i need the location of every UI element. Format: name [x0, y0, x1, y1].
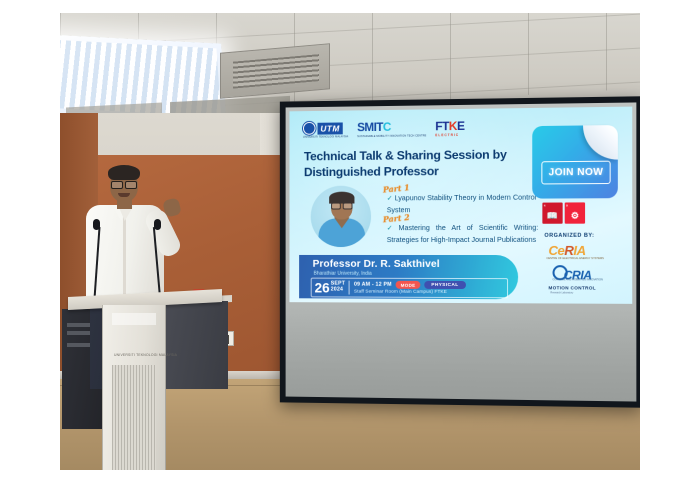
join-now-button[interactable]: JOIN NOW [541, 161, 610, 185]
utm-seal-icon [303, 122, 316, 135]
part-2-bullet: ✓Mastering the Art of Scientific Writing… [387, 223, 539, 246]
smitc-logo-caption: SUSTAINABLE MOBILITY INNOVATION TECH CEN… [357, 134, 426, 138]
presentation-slide: UTM UNIVERSITI TEKNOLOGI MALAYSIA SMITC … [289, 107, 632, 304]
ceria-word-c: IA [573, 243, 585, 258]
podium: UNIVERSITI TEKNOLOGI MALAYSIA [102, 305, 166, 470]
sdg-badge-row: 4 📖 9 ⚙ [542, 202, 585, 223]
side-table [158, 301, 228, 389]
speaker-name: Professor Dr. R. Sakthivel [313, 259, 440, 270]
ftke-logo-word-c: E [457, 119, 464, 133]
speaker-name-bar: Professor Dr. R. Sakthivel Bharathiar Un… [299, 255, 518, 299]
utm-logo: UTM UNIVERSITI TEKNOLOGI MALAYSIA [303, 121, 348, 139]
organized-by-heading: ORGANIZED BY: [544, 233, 594, 239]
slide-logo-row: UTM UNIVERSITI TEKNOLOGI MALAYSIA SMITC … [303, 119, 464, 139]
book-icon: 📖 [547, 212, 558, 221]
ftke-logo-word-a: FT [435, 119, 449, 133]
mode-label-pill: MODE [396, 281, 421, 289]
event-day: 26 [315, 281, 330, 295]
bullet-check-icon-2: ✓ [387, 225, 397, 232]
ftke-logo-sub: ELECTRIC [435, 133, 464, 137]
event-venue: Staff Seminar Room (Main Campus) FTKE [354, 290, 466, 295]
ceria-word-b: R [564, 243, 573, 258]
presenter-hair [108, 165, 140, 180]
detail-divider [349, 281, 350, 295]
utm-logo-word: UTM [317, 122, 342, 134]
event-time: 09 AM - 12 PM [354, 282, 392, 288]
event-photo: UTM UNIVERSITI TEKNOLOGI MALAYSIA SMITC … [60, 13, 640, 470]
join-now-card[interactable]: JOIN NOW [532, 125, 618, 199]
mode-value-pill: PHYSICAL [424, 281, 465, 289]
part-2-text: Mastering the Art of Scientific Writing:… [387, 223, 539, 244]
microphone-head-left [93, 219, 100, 230]
utm-logo-caption: UNIVERSITI TEKNOLOGI MALAYSIA [303, 135, 348, 139]
smitc-logo-word-b: C [383, 120, 391, 134]
sdg-badge-4: 4 📖 [542, 203, 562, 224]
ftke-logo: FTKE ELECTRIC [435, 119, 464, 137]
event-time-venue: 09 AM - 12 PM MODE PHYSICAL Staff Semina… [354, 281, 466, 295]
ceria-logo-sub: CENTRE OF ELECTRICAL ENERGY SYSTEMS [546, 257, 603, 260]
glasses-icon [111, 181, 137, 187]
event-year: 2024 [331, 287, 343, 293]
speaker-portrait-avatar [311, 186, 371, 248]
speaker-affiliation: Bharathiar University, India [314, 271, 372, 277]
sdg-badge-9-number: 9 [566, 204, 567, 207]
smitc-logo-word-a: SMIT [357, 120, 383, 134]
motion-control-logo: MOTION CONTROL [548, 285, 595, 290]
screen-empty-area [286, 308, 637, 402]
event-month-year: SEPT 2024 [331, 282, 345, 294]
podium-paper [112, 313, 156, 325]
event-details-box: 26 SEPT 2024 09 AM - 12 PM MODE PHYSICAL [311, 278, 508, 299]
ceria-logo: CeRIA [548, 243, 585, 258]
podium-brand-text: UNIVERSITI TEKNOLOGI MALAYSIA [114, 353, 177, 357]
motion-control-logo-sub: Research Laboratory [550, 291, 573, 294]
part-1-text: Lyapunov Stability Theory in Modern Cont… [387, 193, 537, 214]
slide-title: Technical Talk & Sharing Session by Dist… [304, 146, 536, 181]
page-curl-icon [583, 125, 618, 160]
sdg-badge-4-number: 4 [544, 204, 545, 207]
projection-screen-surface: UTM UNIVERSITI TEKNOLOGI MALAYSIA SMITC … [286, 102, 637, 401]
ceria-word-a: Ce [548, 243, 564, 258]
gear-network-icon: ⚙ [571, 212, 579, 221]
sdg-badge-9: 9 ⚙ [565, 202, 585, 223]
smitc-logo: SMITC SUSTAINABLE MOBILITY INNOVATION TE… [357, 119, 426, 138]
ceiling-air-vent [220, 43, 330, 99]
microphone-head-right [154, 219, 161, 230]
projection-screen-frame: UTM UNIVERSITI TEKNOLOGI MALAYSIA SMITC … [280, 96, 640, 407]
podium-speaker-grille [112, 365, 156, 470]
bullet-check-icon-1: ✓ [387, 195, 393, 202]
cria-logo-sub: CONTROL AND ROBOTICS INNOVATION [553, 278, 603, 281]
ftke-logo-word-b: K [449, 119, 457, 133]
